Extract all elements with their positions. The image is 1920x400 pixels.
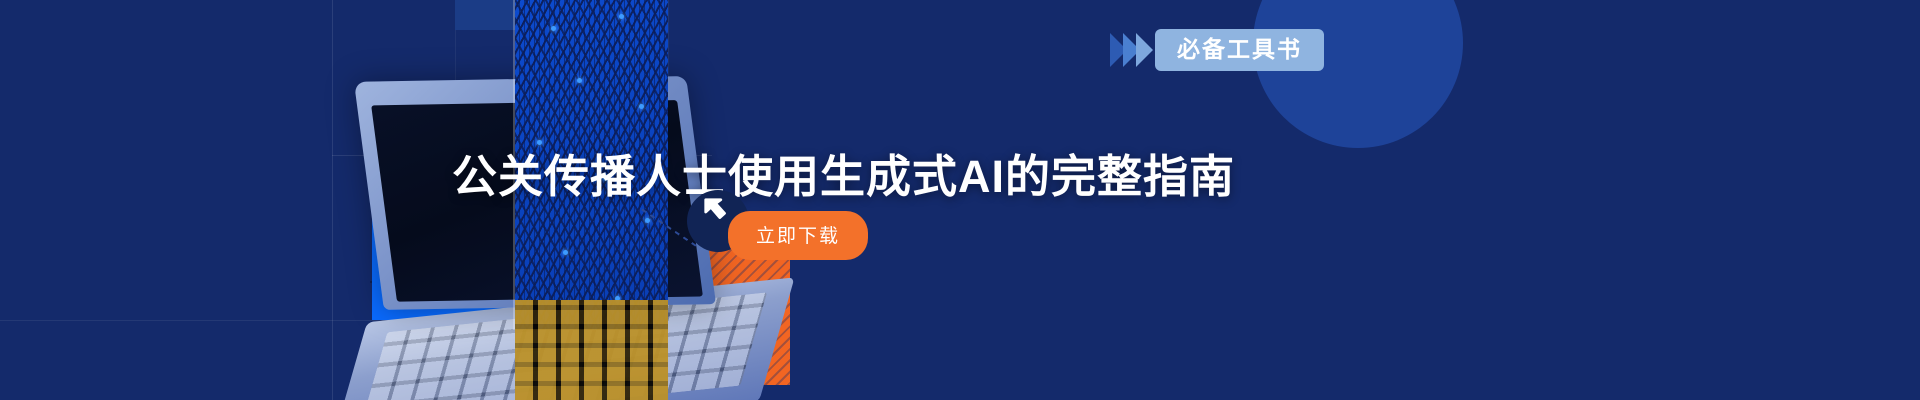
- circuit-node: [645, 218, 650, 223]
- badge: 必备工具书: [1110, 29, 1324, 71]
- circuit-node: [551, 26, 556, 31]
- page-title: 公关传播人士使用生成式AI的完整指南: [452, 140, 1235, 205]
- chevron-group: [1110, 33, 1149, 67]
- background-circle-decoration: [1253, 0, 1463, 148]
- download-button[interactable]: 立即下载: [728, 211, 868, 260]
- promo-banner: 必备工具书 公关传播人士使用生成式AI的完整指南 立即下载: [0, 0, 1920, 400]
- chevron-right-icon: [1136, 33, 1153, 67]
- circuit-node: [577, 78, 582, 83]
- circuit-node: [563, 250, 568, 255]
- circuit-node: [619, 14, 624, 19]
- badge-label: 必备工具书: [1155, 29, 1324, 71]
- arrow-up-left-cursor-icon: [702, 196, 732, 226]
- circuit-node: [639, 104, 644, 109]
- circuit-keyboard-texture: [515, 300, 668, 400]
